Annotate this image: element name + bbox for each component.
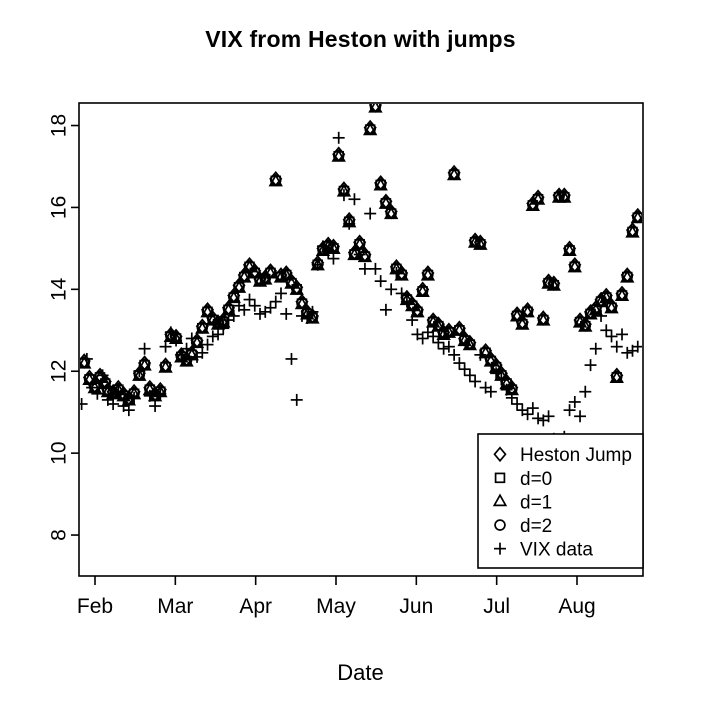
x-axis-label: Date — [0, 660, 721, 686]
x-tick-label: Jun — [399, 595, 433, 618]
scatter-plot-canvas: 81012141618FebMarAprMayJunJulAug Heston … — [0, 0, 721, 721]
clipped-points — [76, 99, 644, 447]
legend-item-label: d=2 — [520, 516, 552, 537]
data-points-layer — [76, 99, 644, 447]
y-tick-label: 10 — [48, 441, 71, 464]
x-tick-label: Apr — [239, 595, 272, 618]
x-tick-label: Aug — [558, 595, 595, 618]
y-tick-label: 8 — [48, 529, 71, 541]
x-tick-label: Jul — [483, 595, 510, 618]
y-tick-label: 16 — [48, 196, 71, 219]
legend-item-label: d=1 — [520, 492, 552, 513]
chart-container: VIX from Heston with jumps 81012141618Fe… — [0, 0, 721, 721]
y-tick-label: 14 — [48, 277, 71, 301]
x-tick-label: Mar — [157, 595, 193, 618]
series-circle — [79, 101, 642, 404]
legend-item-label: d=0 — [520, 469, 552, 490]
x-tick-label: May — [316, 595, 356, 618]
legend-item-label: VIX data — [520, 540, 593, 561]
y-tick-label: 18 — [48, 114, 71, 137]
plot-legend: Heston Jumpd=0d=1d=2VIX data — [478, 434, 643, 568]
legend-item-label: Heston Jump — [520, 445, 632, 466]
y-tick-label: 12 — [48, 360, 71, 383]
x-tick-label: Feb — [77, 595, 113, 618]
